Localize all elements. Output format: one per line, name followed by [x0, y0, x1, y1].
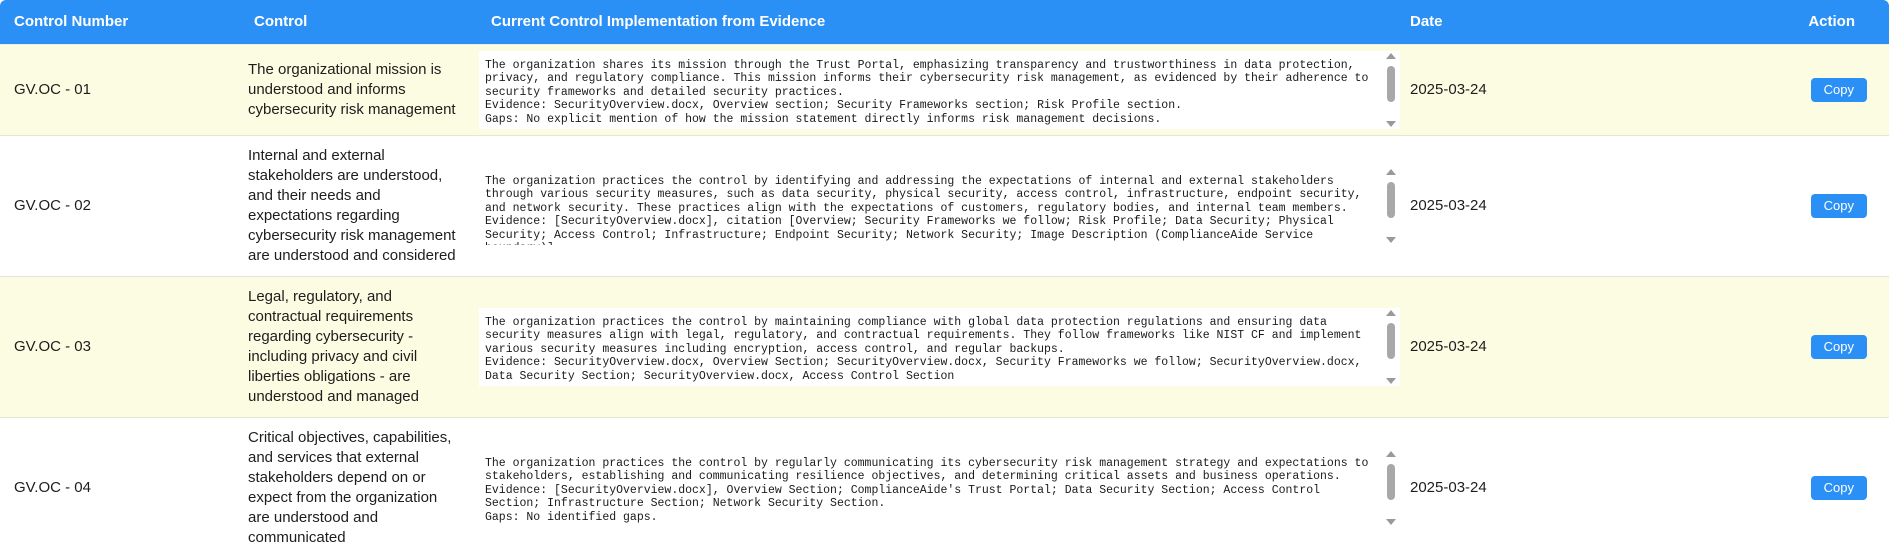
column-header-date: Date	[1404, 0, 1689, 44]
copy-button[interactable]: Copy	[1811, 476, 1867, 500]
scroll-down-arrow-icon[interactable]	[1386, 374, 1396, 384]
scroll-up-arrow-icon[interactable]	[1386, 451, 1396, 461]
cell-control-number: GV.OC - 03	[0, 276, 240, 417]
evidence-paragraph-evidence: Evidence: SecurityOverview.docx, Overvie…	[485, 356, 1372, 383]
column-header-action: Action	[1689, 0, 1889, 44]
table-header-row: Control Number Control Current Control I…	[0, 0, 1889, 44]
cell-date: 2025-03-24	[1404, 44, 1689, 135]
scroll-down-arrow-icon[interactable]	[1386, 233, 1396, 243]
scrollbar-thumb[interactable]	[1387, 66, 1395, 102]
scrollbar-thumb[interactable]	[1387, 323, 1395, 359]
evidence-paragraph-gaps: Gaps: No identified gaps.	[485, 511, 1372, 525]
cell-action: Copy	[1689, 417, 1889, 547]
evidence-paragraph-implementation: The organization practices the control b…	[485, 457, 1372, 484]
cell-action: Copy	[1689, 44, 1889, 135]
evidence-paragraph-implementation: The organization practices the control b…	[485, 175, 1372, 216]
control-evidence-table-page: Control Number Control Current Control I…	[0, 0, 1889, 547]
evidence-paragraph-gaps: Gaps: No explicit mention of how the mis…	[485, 113, 1372, 127]
scroll-down-arrow-icon[interactable]	[1386, 515, 1396, 525]
column-header-control: Control	[240, 0, 477, 44]
scrollbar-thumb[interactable]	[1387, 464, 1395, 500]
cell-evidence: The organization practices the control b…	[477, 417, 1404, 547]
cell-evidence: The organization practices the control b…	[477, 276, 1404, 417]
cell-date: 2025-03-24	[1404, 276, 1689, 417]
evidence-scroll-container[interactable]: The organization practices the control b…	[479, 308, 1400, 386]
cell-action: Copy	[1689, 276, 1889, 417]
scroll-up-arrow-icon[interactable]	[1386, 53, 1396, 63]
scrollbar-thumb[interactable]	[1387, 182, 1395, 218]
cell-control-number: GV.OC - 02	[0, 135, 240, 276]
table-row: GV.OC - 04 Critical objectives, capabili…	[0, 417, 1889, 547]
cell-date: 2025-03-24	[1404, 417, 1689, 547]
table-row: GV.OC - 01 The organizational mission is…	[0, 44, 1889, 135]
evidence-scroll-container[interactable]: The organization shares its mission thro…	[479, 51, 1400, 129]
evidence-scrollbar[interactable]	[1384, 51, 1398, 129]
evidence-paragraph-evidence: Evidence: SecurityOverview.docx, Overvie…	[485, 99, 1372, 113]
evidence-paragraph-implementation: The organization shares its mission thro…	[485, 59, 1372, 100]
table-header: Control Number Control Current Control I…	[0, 0, 1889, 44]
copy-button[interactable]: Copy	[1811, 335, 1867, 359]
cell-date: 2025-03-24	[1404, 135, 1689, 276]
cell-control: The organizational mission is understood…	[240, 44, 477, 135]
evidence-scroll-container[interactable]: The organization practices the control b…	[479, 449, 1400, 527]
evidence-scrollbar[interactable]	[1384, 449, 1398, 527]
table-body: GV.OC - 01 The organizational mission is…	[0, 44, 1889, 547]
table-row: GV.OC - 02 Internal and external stakeho…	[0, 135, 1889, 276]
evidence-paragraph-evidence: Evidence: [SecurityOverview.docx], Overv…	[485, 484, 1372, 511]
cell-control: Internal and external stakeholders are u…	[240, 135, 477, 276]
column-header-evidence: Current Control Implementation from Evid…	[477, 0, 1404, 44]
evidence-scrollbar[interactable]	[1384, 167, 1398, 245]
table-row: GV.OC - 03 Legal, regulatory, and contra…	[0, 276, 1889, 417]
control-evidence-table: Control Number Control Current Control I…	[0, 0, 1889, 547]
copy-button[interactable]: Copy	[1811, 194, 1867, 218]
cell-control: Critical objectives, capabilities, and s…	[240, 417, 477, 547]
evidence-scroll-container[interactable]: The organization practices the control b…	[479, 167, 1400, 245]
cell-action: Copy	[1689, 135, 1889, 276]
cell-control: Legal, regulatory, and contractual requi…	[240, 276, 477, 417]
evidence-paragraph-evidence: Evidence: [SecurityOverview.docx], citat…	[485, 215, 1372, 245]
scroll-up-arrow-icon[interactable]	[1386, 310, 1396, 320]
evidence-scrollbar[interactable]	[1384, 308, 1398, 386]
cell-control-number: GV.OC - 01	[0, 44, 240, 135]
copy-button[interactable]: Copy	[1811, 78, 1867, 102]
cell-evidence: The organization shares its mission thro…	[477, 44, 1404, 135]
cell-control-number: GV.OC - 04	[0, 417, 240, 547]
cell-evidence: The organization practices the control b…	[477, 135, 1404, 276]
scroll-down-arrow-icon[interactable]	[1386, 117, 1396, 127]
evidence-paragraph-implementation: The organization practices the control b…	[485, 316, 1372, 357]
scroll-up-arrow-icon[interactable]	[1386, 169, 1396, 179]
column-header-control-number: Control Number	[0, 0, 240, 44]
